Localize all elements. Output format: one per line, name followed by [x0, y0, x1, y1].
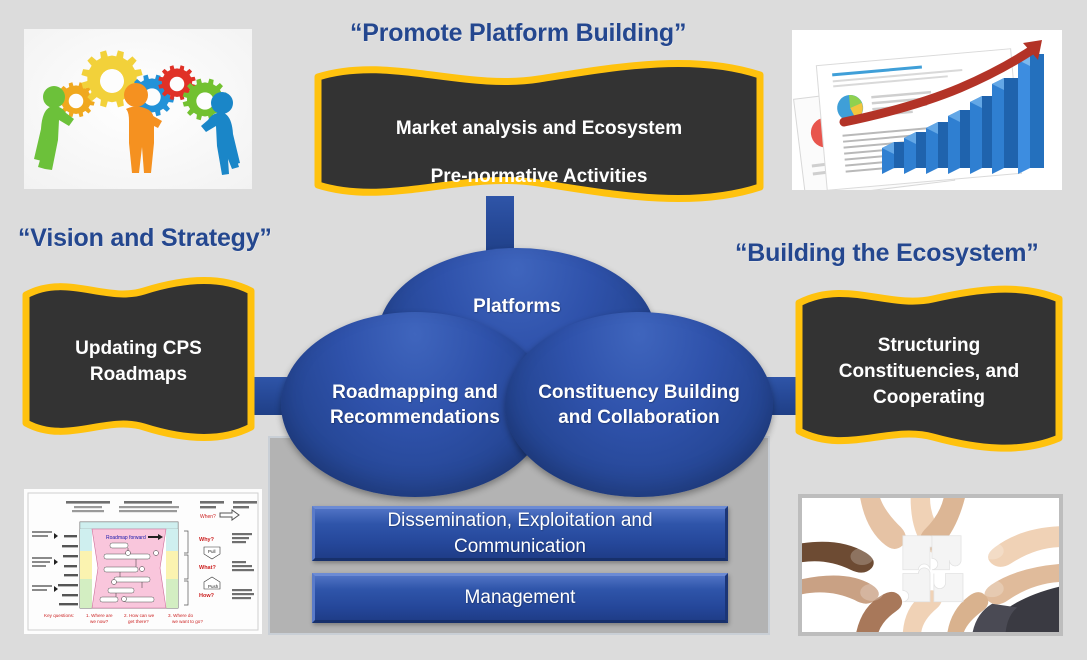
bar-management-label: Management [465, 585, 576, 611]
bar-dissemination-line1: Dissemination, Exploitation and [387, 510, 652, 531]
svg-text:What?: What? [199, 565, 216, 571]
bar-dissemination-exploitation-communication[interactable]: Dissemination, Exploitation and Communic… [312, 506, 728, 561]
bar-chart-report-photo [792, 30, 1062, 190]
svg-text:Roadmap forward: Roadmap forward [106, 535, 146, 541]
section-title-promote-platform-building: “Promote Platform Building” [350, 19, 686, 48]
banner-wave-shape [793, 283, 1065, 458]
ellipse-constituency-label: Constituency Building and Collaboration [528, 380, 750, 430]
svg-text:Pull: Pull [208, 549, 216, 554]
ellipse-constituency-line2: and Collaboration [538, 405, 740, 430]
section-title-building-the-ecosystem: “Building the Ecosystem” [735, 239, 1039, 268]
ellipse-roadmapping-line2: Recommendations [330, 405, 500, 430]
hands-puzzle-pieces-photo [798, 494, 1063, 636]
banner-updating-cps-roadmaps[interactable]: Updating CPS Roadmaps [20, 277, 257, 447]
svg-text:When?: When? [200, 514, 216, 520]
ellipse-constituency-line1: Constituency Building [538, 380, 740, 405]
bar-dissemination-line2: Communication [454, 536, 586, 557]
banner-structuring-constituencies[interactable]: Structuring Constituencies, and Cooperat… [793, 283, 1065, 458]
svg-text:Why?: Why? [199, 537, 215, 543]
banner-market-analysis[interactable]: Market analysis and Ecosystem Pre-normat… [313, 57, 765, 207]
svg-text:How?: How? [199, 593, 215, 599]
bar-dissemination-label: Dissemination, Exploitation and Communic… [387, 508, 652, 560]
bar-management[interactable]: Management [312, 573, 728, 623]
svg-text:Key questions:: Key questions: [44, 613, 74, 618]
svg-text:3. Where do: 3. Where do [168, 613, 193, 618]
roadmap-framework-diagram: When? Roadmap forward [24, 489, 262, 634]
ellipse-platforms-label: Platforms [463, 294, 571, 319]
svg-text:2. How can we: 2. How can we [124, 613, 155, 618]
ellipse-roadmapping-label: Roadmapping and Recommendations [320, 380, 510, 430]
ellipse-roadmapping-line1: Roadmapping and [330, 380, 500, 405]
svg-text:we want to go?: we want to go? [172, 619, 203, 624]
svg-text:Push: Push [208, 584, 219, 589]
ellipse-constituency-building-and-collaboration[interactable]: Constituency Building and Collaboration [505, 312, 773, 497]
banner-wave-shape [20, 277, 257, 447]
section-title-vision-and-strategy: “Vision and Strategy” [18, 224, 272, 253]
banner-wave-shape [313, 57, 765, 207]
svg-text:we now?: we now? [90, 619, 109, 624]
svg-text:get there?: get there? [128, 619, 149, 624]
gears-teamwork-photo [24, 29, 252, 189]
svg-text:1. Where are: 1. Where are [86, 613, 113, 618]
slide-canvas: When? Roadmap forward [0, 0, 1087, 660]
